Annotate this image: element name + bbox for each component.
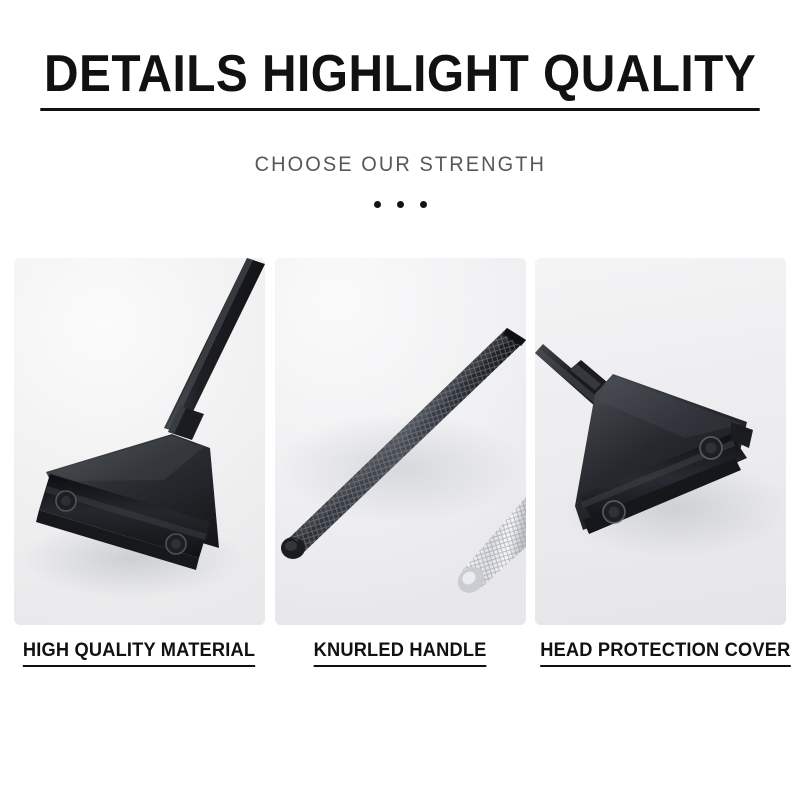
knurled-handle-illustration [275, 258, 526, 625]
caption-cell: HEAD PROTECTION COVER [535, 640, 786, 680]
page-header: DETAILS HIGHLIGHT QUALITY CHOOSE OUR STR… [0, 0, 800, 208]
product-image-high-quality-material[interactable] [14, 258, 265, 625]
subtitle-row: CHOOSE OUR STRENGTH [0, 153, 800, 177]
product-image-head-protection-cover[interactable] [535, 258, 786, 625]
thumb-screw-icon [700, 437, 722, 459]
caption-cell: KNURLED HANDLE [275, 640, 526, 680]
caption-row: HIGH QUALITY MATERIAL KNURLED HANDLE HEA… [14, 640, 786, 680]
head-protection-cover-illustration [535, 258, 786, 625]
product-detail-gallery [14, 258, 786, 625]
caption-head-protection-cover: HEAD PROTECTION COVER [540, 640, 790, 667]
caption-knurled-handle: KNURLED HANDLE [314, 640, 487, 667]
product-image-knurled-handle[interactable] [275, 258, 526, 625]
caption-high-quality-material: HIGH QUALITY MATERIAL [23, 640, 255, 667]
page-subtitle: CHOOSE OUR STRENGTH [254, 153, 545, 177]
thumb-screw-icon [603, 501, 625, 523]
caption-cell: HIGH QUALITY MATERIAL [14, 640, 265, 680]
scraper-head-illustration [14, 258, 265, 625]
separator-dot [374, 201, 381, 208]
thumb-screw-icon [166, 534, 186, 554]
page-title: DETAILS HIGHLIGHT QUALITY [40, 48, 760, 111]
dot-separator [0, 201, 800, 208]
separator-dot [420, 201, 427, 208]
separator-dot [397, 201, 404, 208]
thumb-screw-icon [56, 491, 76, 511]
